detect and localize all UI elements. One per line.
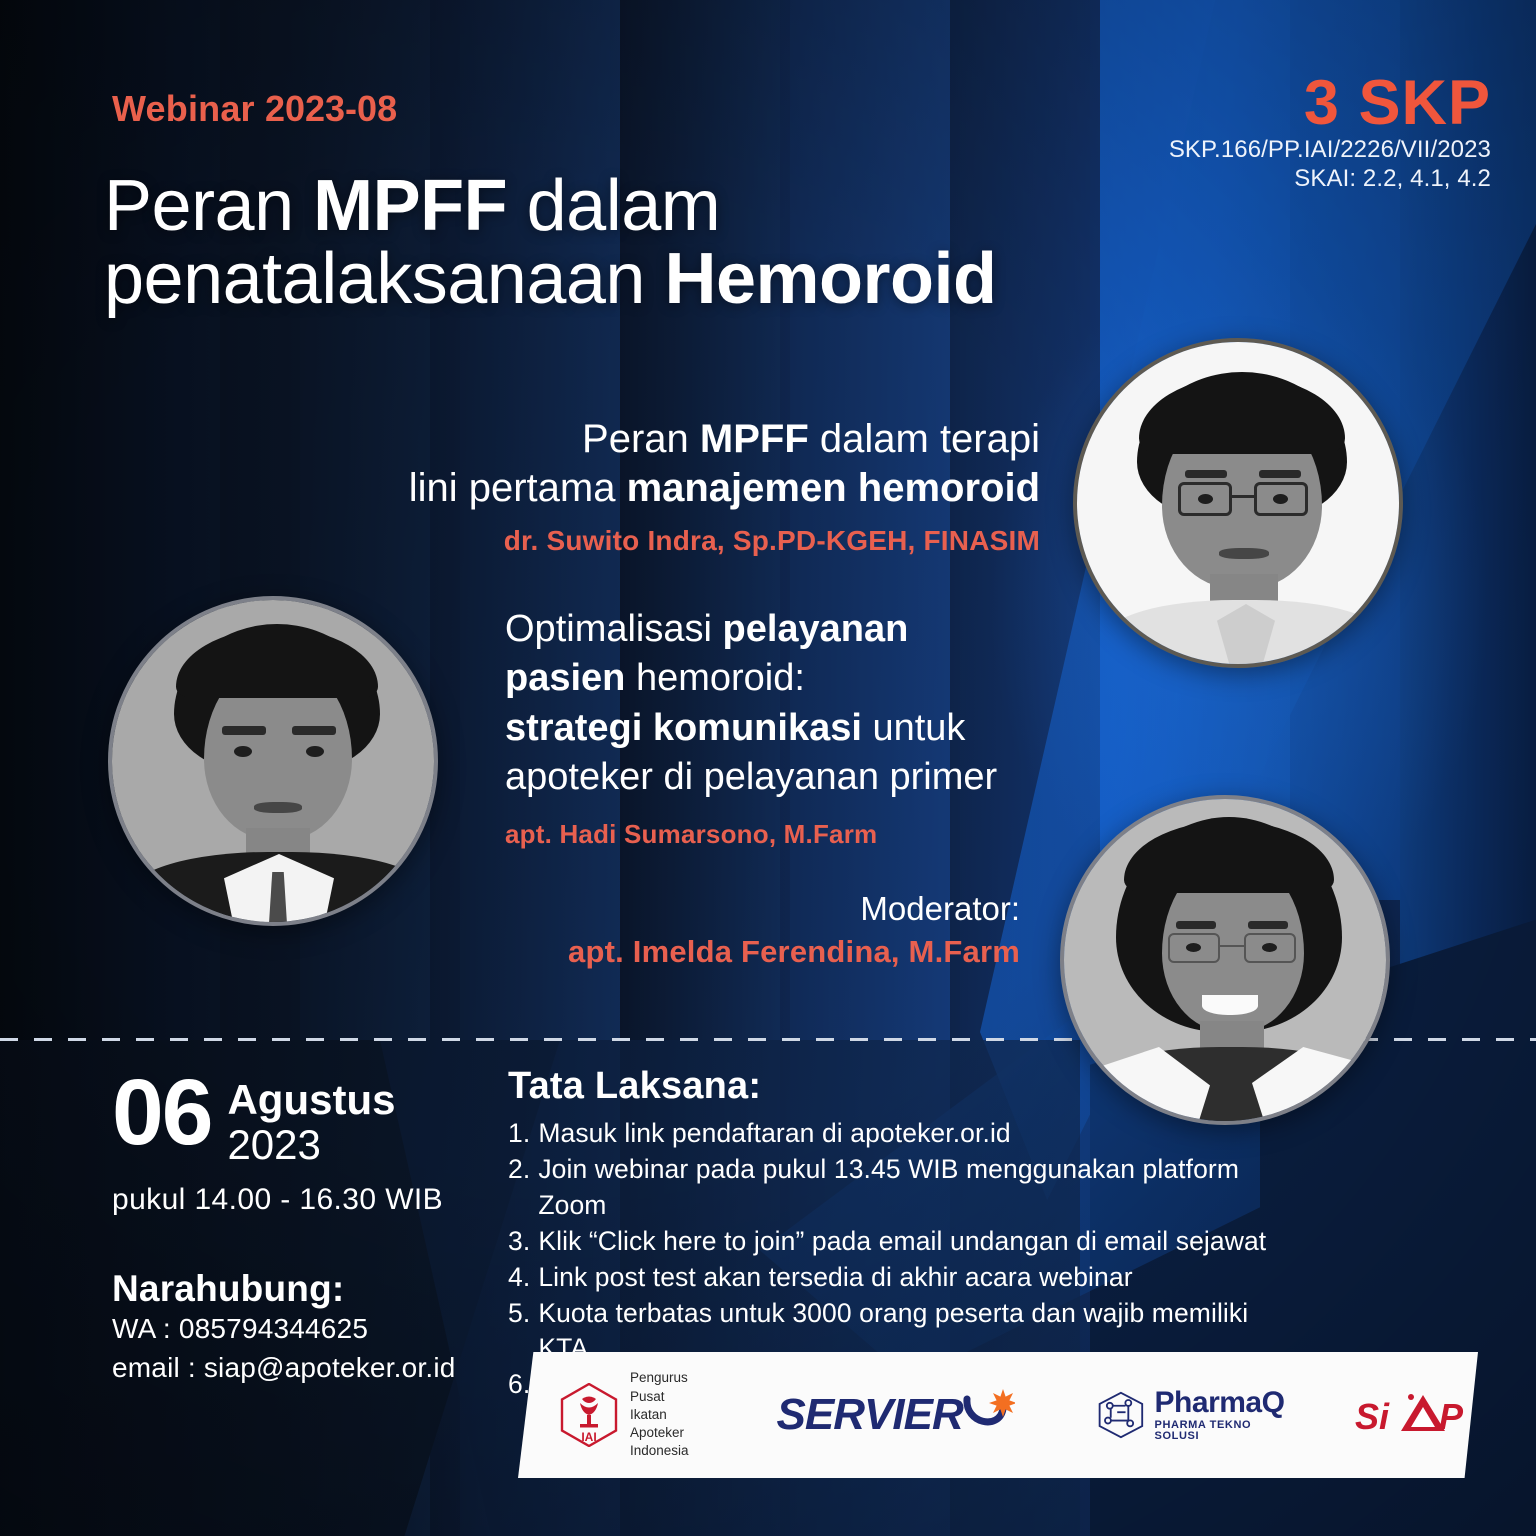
list-item-number: 5. xyxy=(508,1296,530,1368)
session-2-l2-bold: pasien xyxy=(505,657,625,699)
contact-title: Narahubung: xyxy=(112,1268,456,1310)
siap-wordmark-icon: Si P xyxy=(1353,1387,1483,1443)
moderator-block: Moderator: apt. Imelda Ferendina, M.Farm xyxy=(560,890,1020,970)
contact-email: email : siap@apoteker.or.id xyxy=(112,1349,456,1388)
event-date-row: 06 Agustus 2023 xyxy=(112,1070,443,1167)
event-day: 06 xyxy=(112,1070,211,1156)
list-item-text: Join webinar pada pukul 13.45 WIB menggu… xyxy=(538,1152,1268,1224)
logo-pharmaq: PharmaQ PHARMA TEKNO SOLUSI xyxy=(1095,1388,1289,1442)
session-2-l1-plain: Optimalisasi xyxy=(505,608,723,650)
session-1-l1-tail: dalam terapi xyxy=(809,417,1040,461)
title-line1-bold: MPFF xyxy=(313,166,507,246)
list-item: 2.Join webinar pada pukul 13.45 WIB meng… xyxy=(508,1152,1268,1224)
title-line2-plain: penatalaksanaan xyxy=(104,239,664,319)
portrait-canvas xyxy=(112,600,434,922)
skai-codes: SKAI: 2.2, 4.1, 4.2 xyxy=(1169,164,1491,193)
list-item-text: Link post test akan tersedia di akhir ac… xyxy=(538,1260,1268,1296)
webinar-label: Webinar 2023-08 xyxy=(112,88,397,130)
webinar-poster: Webinar 2023-08 3 SKP SKP.166/PP.IAI/222… xyxy=(0,0,1536,1536)
title-line1-tail: dalam xyxy=(507,166,720,246)
list-item-text: Klik “Click here to join” pada email und… xyxy=(538,1224,1268,1260)
event-time: pukul 14.00 - 16.30 WIB xyxy=(112,1183,443,1217)
title-line-2: penatalaksanaan Hemoroid xyxy=(104,243,1114,316)
moderator-photo-imelda-ferendina xyxy=(1060,795,1390,1125)
speaker-photo-hadi-sumarsono xyxy=(108,596,438,926)
skp-number: SKP.166/PP.IAI/2226/VII/2023 xyxy=(1169,135,1491,164)
list-item-number: 1. xyxy=(508,1116,530,1152)
event-year: 2023 xyxy=(227,1122,395,1167)
pharmaq-circuit-icon xyxy=(1095,1388,1147,1442)
list-item-number: 2. xyxy=(508,1152,530,1224)
page-title: Peran MPFF dalam penatalaksanaan Hemoroi… xyxy=(104,170,1114,317)
contact-whatsapp: WA : 085794344625 xyxy=(112,1310,456,1349)
contact-block: Narahubung: WA : 085794344625 email : si… xyxy=(112,1268,456,1387)
skp-credits: 3 SKP xyxy=(1169,72,1491,135)
session-2-l1-bold: pelayanan xyxy=(723,608,909,650)
event-month: Agustus xyxy=(227,1078,395,1122)
session-1-line-2: lini pertama manajemen hemoroid xyxy=(300,464,1040,513)
session-2-line-2: pasien hemoroid: xyxy=(505,654,1065,703)
session-2-line-3: strategi komunikasi untuk xyxy=(505,704,1065,753)
servier-swoosh-icon xyxy=(959,1389,1015,1441)
session-1-l2-bold: manajemen hemoroid xyxy=(627,466,1040,510)
webinar-number: 2023-08 xyxy=(265,88,397,129)
event-month-year: Agustus 2023 xyxy=(227,1070,395,1167)
session-2-line-4: apoteker di pelayanan primer xyxy=(505,753,1065,802)
pharmaq-wordmark: PharmaQ xyxy=(1155,1388,1289,1418)
webinar-label-text: Webinar xyxy=(112,88,255,129)
title-line-1: Peran MPFF dalam xyxy=(104,170,1114,243)
svg-text:IAI: IAI xyxy=(581,1430,596,1444)
session-1-speaker: dr. Suwito Indra, Sp.PD-KGEH, FINASIM xyxy=(300,525,1040,557)
session-2: Optimalisasi pelayanan pasien hemoroid: … xyxy=(505,605,1065,850)
pharmaq-text: PharmaQ PHARMA TEKNO SOLUSI xyxy=(1155,1388,1289,1442)
pharmaq-tagline: PHARMA TEKNO SOLUSI xyxy=(1155,1420,1289,1442)
moderator-label: Moderator: xyxy=(560,890,1020,928)
portrait-canvas xyxy=(1064,799,1386,1121)
session-2-l2-plain: hemoroid: xyxy=(625,657,805,699)
session-1: Peran MPFF dalam terapi lini pertama man… xyxy=(300,415,1040,557)
iai-line-2: Ikatan Apoteker Indonesia xyxy=(630,1406,689,1461)
iai-line-1: Pengurus Pusat xyxy=(630,1369,689,1405)
list-item: 3.Klik “Click here to join” pada email u… xyxy=(508,1224,1268,1260)
moderator-name: apt. Imelda Ferendina, M.Farm xyxy=(560,934,1020,970)
session-1-l1-bold: MPFF xyxy=(700,417,809,461)
logo-siap: Si P xyxy=(1353,1387,1483,1443)
title-line1-plain: Peran xyxy=(104,166,313,246)
list-item: 4.Link post test akan tersedia di akhir … xyxy=(508,1260,1268,1296)
session-2-line-1: Optimalisasi pelayanan xyxy=(505,605,1065,654)
logo-servier: SERVIER xyxy=(777,1389,1015,1441)
speaker-photo-suwito-indra xyxy=(1073,338,1403,668)
list-item: 1.Masuk link pendaftaran di apoteker.or.… xyxy=(508,1116,1268,1152)
session-2-l3-bold: strategi komunikasi xyxy=(505,707,862,749)
iai-organization-text: Pengurus Pusat Ikatan Apoteker Indonesia xyxy=(630,1369,689,1460)
session-1-line-1: Peran MPFF dalam terapi xyxy=(300,415,1040,464)
skp-credit-block: 3 SKP SKP.166/PP.IAI/2226/VII/2023 SKAI:… xyxy=(1169,72,1491,194)
session-1-l1-plain: Peran xyxy=(582,417,700,461)
title-line2-bold: Hemoroid xyxy=(664,239,996,319)
session-1-l2-plain: lini pertama xyxy=(409,466,627,510)
event-date-block: 06 Agustus 2023 pukul 14.00 - 16.30 WIB xyxy=(112,1070,443,1217)
sponsor-logo-bar: IAI Pengurus Pusat Ikatan Apoteker Indon… xyxy=(518,1352,1478,1478)
logo-iai: IAI Pengurus Pusat Ikatan Apoteker Indon… xyxy=(560,1369,689,1460)
list-item-text: Masuk link pendaftaran di apoteker.or.id xyxy=(538,1116,1268,1152)
servier-wordmark: SERVIER xyxy=(777,1390,963,1440)
session-2-speaker: apt. Hadi Sumarsono, M.Farm xyxy=(505,819,1065,850)
svg-text:Si: Si xyxy=(1355,1396,1390,1437)
list-item-number: 3. xyxy=(508,1224,530,1260)
list-item-number: 4. xyxy=(508,1260,530,1296)
iai-hexagon-icon: IAI xyxy=(560,1383,618,1447)
session-2-l3-plain: untuk xyxy=(862,707,966,749)
portrait-canvas xyxy=(1077,342,1399,664)
